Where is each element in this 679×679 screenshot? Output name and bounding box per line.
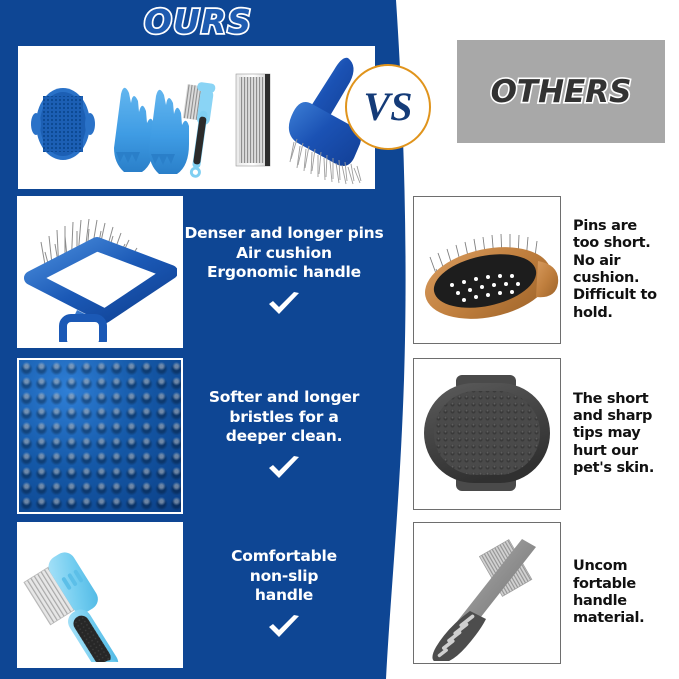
check-icon [267, 456, 301, 480]
comparison-infographic: OURS OTHERS [0, 0, 679, 679]
others-header-block: OTHERS [457, 40, 665, 143]
ours-product-lineup-card [18, 46, 375, 189]
comparison-row-handle: Comfortable non-slip handle [0, 522, 679, 664]
others-con-text: The short and sharp tips may hurt our pe… [573, 391, 654, 478]
ours-product-lineup-image [18, 46, 375, 189]
check-icon [267, 615, 301, 639]
others-title: OTHERS [491, 74, 632, 110]
ours-claim-handle: Comfortable non-slip handle [184, 522, 384, 664]
others-con-pins: Pins are too short. No air cushion. Diff… [573, 196, 675, 344]
others-image-metal-comb [413, 522, 561, 664]
comparison-row-bristles: Softer and longer bristles for a deeper … [0, 358, 679, 510]
others-image-rubber-pad [413, 358, 561, 510]
comparison-row-pins: Denser and longer pins Air cushion Ergon… [0, 196, 679, 344]
check-icon [267, 292, 301, 316]
ours-image-silicone-bristles [17, 358, 183, 514]
ours-claim-text: Softer and longer bristles for a deeper … [209, 388, 359, 447]
others-con-text: Pins are too short. No air cushion. Diff… [573, 218, 657, 322]
others-image-wooden-pin-brush [413, 196, 561, 344]
ours-claim-bristles: Softer and longer bristles for a deeper … [184, 358, 384, 510]
others-con-text: Uncom fortable handle material. [573, 558, 644, 628]
bristle-texture [19, 360, 181, 512]
ours-claim-pins: Denser and longer pins Air cushion Ergon… [184, 196, 384, 344]
ours-image-blue-flea-comb [17, 522, 183, 668]
ours-image-blue-slicker-brush [17, 196, 183, 348]
ours-title: OURS [0, 2, 396, 41]
ours-claim-text: Denser and longer pins Air cushion Ergon… [184, 224, 383, 283]
metal-comb-icon [236, 74, 270, 166]
ours-claim-text: Comfortable non-slip handle [231, 547, 337, 606]
others-con-handle: Uncom fortable handle material. [573, 522, 675, 664]
others-con-bristles: The short and sharp tips may hurt our pe… [573, 358, 675, 510]
vs-badge: VS [345, 64, 431, 150]
vs-label: VS [364, 87, 413, 127]
